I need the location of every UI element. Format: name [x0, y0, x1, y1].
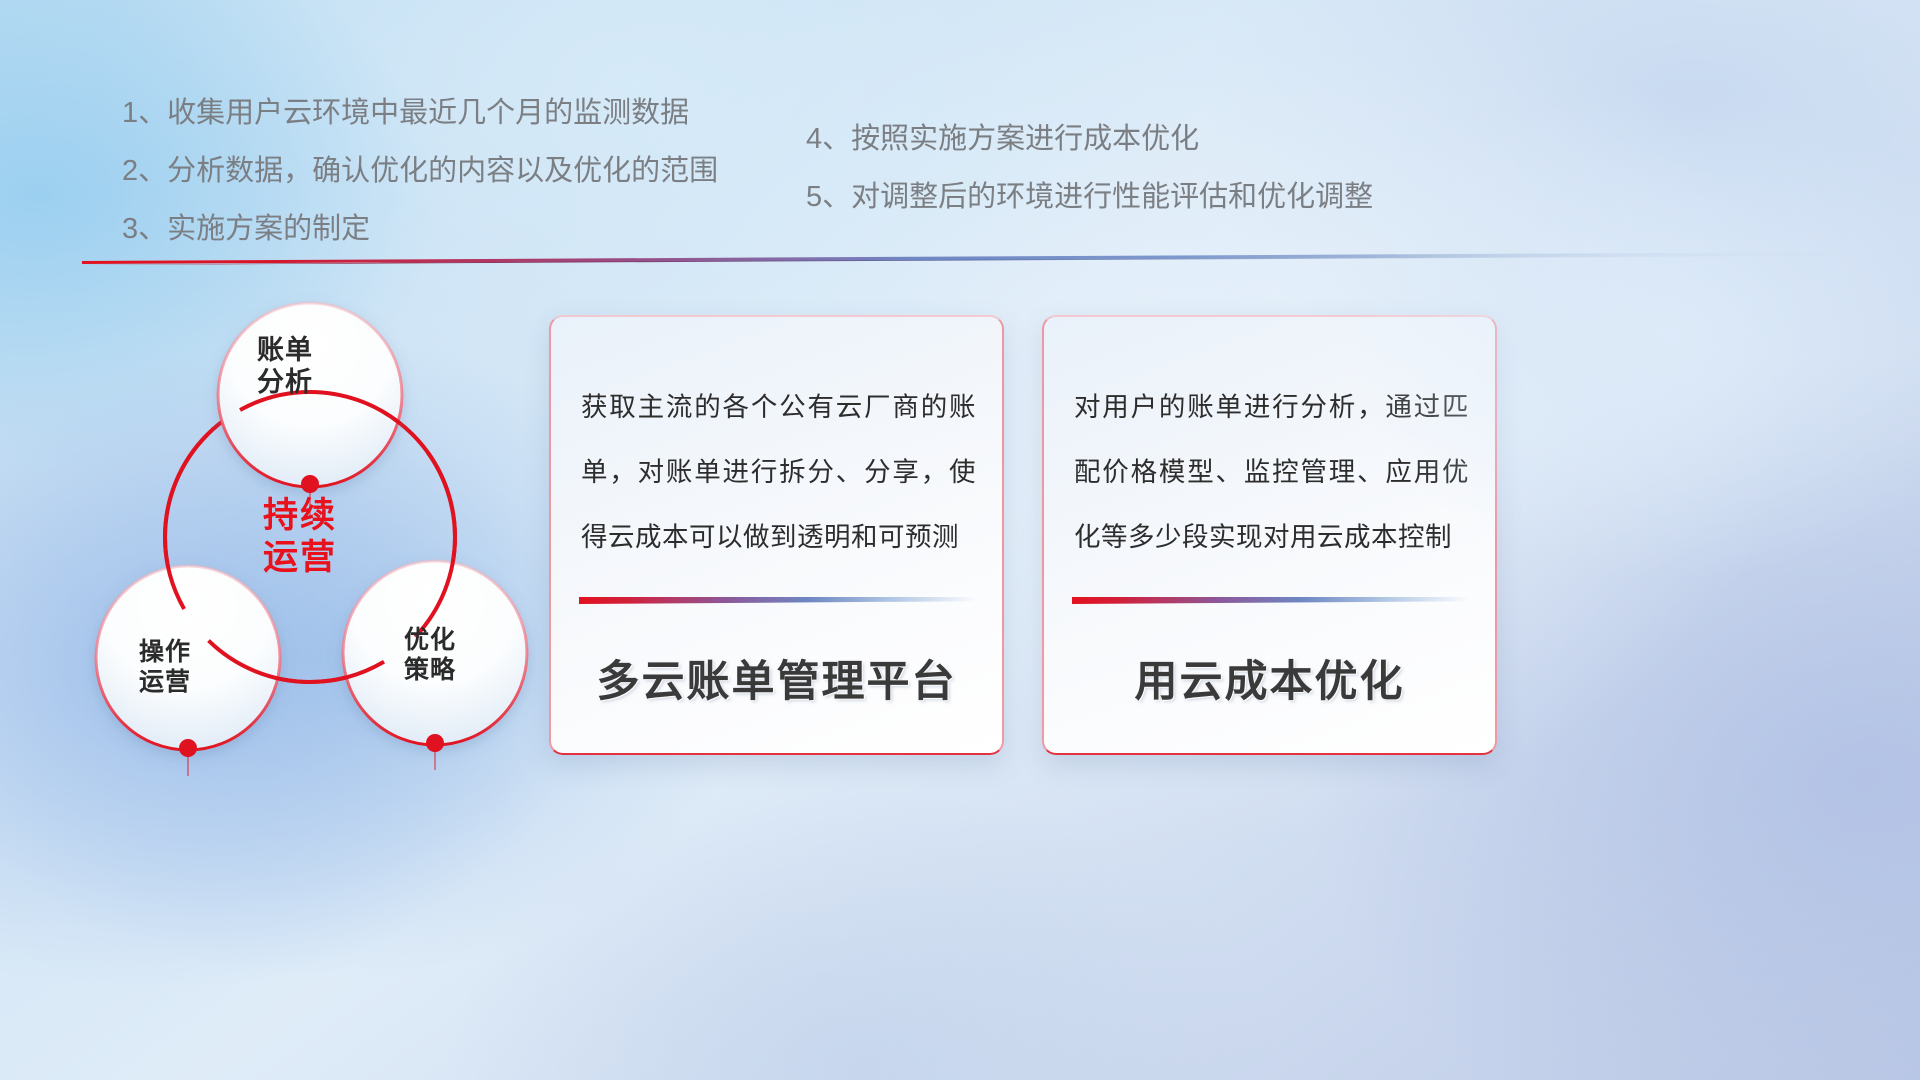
node-dot-bottom-right	[426, 734, 444, 752]
step-item: 1、收集用户云环境中最近几个月的监测数据	[122, 99, 718, 128]
bubble-label-optimization-strategy: 优化 策略	[350, 626, 510, 685]
card-body-text: 获取主流的各个公有云厂商的账单，对账单进行拆分、分享，使得云成本可以做到透明和可…	[581, 375, 976, 570]
node-dot-bottom-left	[179, 739, 197, 757]
step-item: 2、分析数据，确认优化的内容以及优化的范围	[122, 157, 718, 186]
card-multi-cloud-billing-platform: 获取主流的各个公有云厂商的账单，对账单进行拆分、分享，使得云成本可以做到透明和可…	[549, 315, 1004, 755]
card-body-text: 对用户的账单进行分析，通过匹配价格模型、监控管理、应用优化等多少段实现对用云成本…	[1074, 375, 1469, 570]
card-divider	[1072, 597, 1469, 604]
slide-canvas: 1、收集用户云环境中最近几个月的监测数据 2、分析数据，确认优化的内容以及优化的…	[0, 0, 1920, 1080]
bubble-label-operations: 操作 运营	[85, 638, 245, 697]
step-item: 4、按照实施方案进行成本优化	[806, 125, 1373, 154]
card-title: 多云账单管理平台	[551, 647, 1002, 709]
card-title: 用云成本优化	[1044, 647, 1495, 709]
card-divider	[579, 597, 976, 604]
diagram-center-label: 持续 运营	[215, 495, 385, 579]
card-cloud-cost-optimization: 对用户的账单进行分析，通过匹配价格模型、监控管理、应用优化等多少段实现对用云成本…	[1042, 315, 1497, 755]
step-item: 5、对调整后的环境进行性能评估和优化调整	[806, 183, 1373, 212]
step-item: 3、实施方案的制定	[122, 215, 718, 244]
bubble-label-billing-analysis: 账单 分析	[205, 335, 365, 399]
steps-list-right: 4、按照实施方案进行成本优化 5、对调整后的环境进行性能评估和优化调整	[806, 125, 1373, 241]
steps-list-left: 1、收集用户云环境中最近几个月的监测数据 2、分析数据，确认优化的内容以及优化的…	[122, 99, 718, 273]
node-dot-top	[301, 475, 319, 493]
